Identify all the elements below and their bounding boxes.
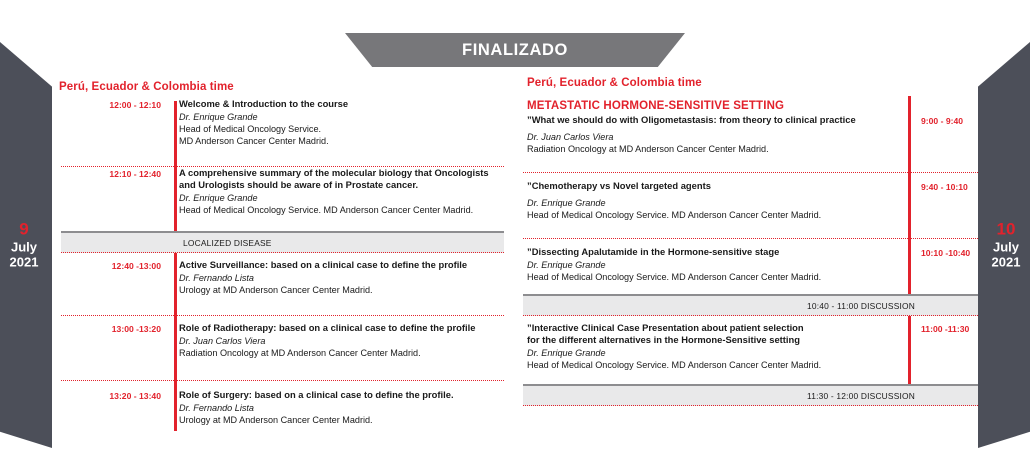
session-title-2: for the different alternatives in the Ho… <box>527 334 902 346</box>
session-title: Role of Surgery: based on a clinical cas… <box>179 389 500 401</box>
date-tab-right-inner: 10 July 2021 <box>978 220 1030 271</box>
agenda-page: FINALIZADO 9 July 2021 10 July 2021 Perú… <box>0 0 1030 450</box>
session-time: 10:10 -10:40 <box>910 246 978 258</box>
date-tab-day-9: 9 July 2021 <box>0 42 52 448</box>
session-speaker: Dr. Fernando Lista <box>179 272 500 284</box>
session-row[interactable]: 12:00 - 12:10 Welcome & Introduction to … <box>57 98 504 166</box>
session-affil: Urology at MD Anderson Cancer Center Mad… <box>179 284 500 296</box>
right-timezone-heading: Perú, Ecuador & Colombia time <box>527 77 702 89</box>
session-row[interactable]: 12:10 - 12:40 A comprehensive summary of… <box>57 167 504 231</box>
session-title: ”Interactive Clinical Case Presentation … <box>527 322 902 334</box>
session-affil-2: MD Anderson Cancer Center Madrid. <box>179 135 500 147</box>
session-body: Welcome & Introduction to the course Dr.… <box>170 98 504 147</box>
session-time: 13:00 -13:20 <box>57 322 170 334</box>
session-title: ”What we should do with Oligometastasis:… <box>527 114 902 126</box>
right-section-heading: METASTATIC HORMONE-SENSITIVE SETTING <box>527 100 784 112</box>
session-row[interactable]: ”Interactive Clinical Case Presentation … <box>523 316 978 384</box>
session-title: Active Surveillance: based on a clinical… <box>179 259 500 271</box>
session-affil: Radiation Oncology at MD Anderson Cancer… <box>527 143 902 155</box>
session-affil: Urology at MD Anderson Cancer Center Mad… <box>179 414 500 426</box>
discussion-band: 11:30 - 12:00 DISCUSSION <box>523 384 978 406</box>
session-row[interactable]: ”Chemotherapy vs Novel targeted agents D… <box>523 173 978 238</box>
session-body: ”Dissecting Apalutamide in the Hormone-s… <box>523 246 910 283</box>
session-affil: Head of Medical Oncology Service. MD And… <box>527 359 902 371</box>
session-title: ”Chemotherapy vs Novel targeted agents <box>527 180 902 192</box>
session-body: A comprehensive summary of the molecular… <box>170 167 504 216</box>
session-row[interactable]: 13:00 -13:20 Role of Radiotherapy: based… <box>57 316 504 380</box>
session-speaker: Dr. Enrique Grande <box>179 111 500 123</box>
session-body: ”Chemotherapy vs Novel targeted agents D… <box>523 180 910 221</box>
session-row[interactable]: ”Dissecting Apalutamide in the Hormone-s… <box>523 239 978 294</box>
left-session-list: 12:00 - 12:10 Welcome & Introduction to … <box>57 98 504 439</box>
session-body: Role of Radiotherapy: based on a clinica… <box>170 322 504 359</box>
section-band-label: LOCALIZED DISEASE <box>61 238 272 248</box>
session-affil: Head of Medical Oncology Service. MD And… <box>527 271 902 283</box>
date-tab-left-year: 2021 <box>0 255 48 270</box>
session-body: ”Interactive Clinical Case Presentation … <box>523 322 910 371</box>
session-body: Role of Surgery: based on a clinical cas… <box>170 389 504 426</box>
date-tab-right-day: 10 <box>982 220 1030 240</box>
session-time: 12:00 - 12:10 <box>57 98 170 110</box>
session-speaker: Dr. Enrique Grande <box>527 197 902 209</box>
session-speaker: Dr. Juan Carlos Viera <box>179 335 500 347</box>
session-time: 9:00 - 9:40 <box>910 114 978 126</box>
session-row[interactable]: 13:20 - 13:40 Role of Surgery: based on … <box>57 381 504 439</box>
date-tab-left-day: 9 <box>0 220 48 240</box>
status-banner: FINALIZADO <box>345 33 685 67</box>
session-speaker: Dr. Enrique Grande <box>527 259 902 271</box>
session-affil: Head of Medical Oncology Service. <box>179 123 500 135</box>
session-title-2: and Urologists should be aware of in Pro… <box>179 179 500 191</box>
session-affil: Head of Medical Oncology Service. MD And… <box>179 204 500 216</box>
session-time: 9:40 - 10:10 <box>910 180 978 192</box>
session-affil: Head of Medical Oncology Service. MD And… <box>527 209 902 221</box>
session-speaker: Dr. Enrique Grande <box>527 347 902 359</box>
session-title: ”Dissecting Apalutamide in the Hormone-s… <box>527 246 902 258</box>
session-time: 13:20 - 13:40 <box>57 389 170 401</box>
session-speaker: Dr. Enrique Grande <box>179 192 500 204</box>
session-time: 12:40 -13:00 <box>57 259 170 271</box>
discussion-band-label: 11:30 - 12:00 DISCUSSION <box>523 391 978 401</box>
session-time: 12:10 - 12:40 <box>57 167 170 179</box>
session-title: Role of Radiotherapy: based on a clinica… <box>179 322 500 334</box>
left-timezone-heading: Perú, Ecuador & Colombia time <box>59 81 234 93</box>
session-title: Welcome & Introduction to the course <box>179 98 500 110</box>
session-row[interactable]: ”What we should do with Oligometastasis:… <box>523 114 978 172</box>
discussion-band-label: 10:40 - 11:00 DISCUSSION <box>523 301 978 311</box>
discussion-band: 10:40 - 11:00 DISCUSSION <box>523 294 978 316</box>
date-tab-left-inner: 9 July 2021 <box>0 220 52 271</box>
session-title: A comprehensive summary of the molecular… <box>179 167 500 179</box>
date-tab-left-month: July <box>0 240 48 255</box>
session-speaker: Dr. Juan Carlos Viera <box>527 131 902 143</box>
right-session-list: ”What we should do with Oligometastasis:… <box>523 114 978 406</box>
session-affil: Radiation Oncology at MD Anderson Cancer… <box>179 347 500 359</box>
session-row[interactable]: 12:40 -13:00 Active Surveillance: based … <box>57 253 504 315</box>
session-body: ”What we should do with Oligometastasis:… <box>523 114 910 155</box>
status-banner-label: FINALIZADO <box>462 41 568 60</box>
session-body: Active Surveillance: based on a clinical… <box>170 259 504 296</box>
date-tab-day-10: 10 July 2021 <box>978 42 1030 448</box>
date-tab-right-year: 2021 <box>982 255 1030 270</box>
date-tab-right-month: July <box>982 240 1030 255</box>
section-band-localized-disease: LOCALIZED DISEASE <box>61 231 504 253</box>
session-time: 11:00 -11:30 <box>910 322 978 334</box>
session-speaker: Dr. Fernando Lista <box>179 402 500 414</box>
